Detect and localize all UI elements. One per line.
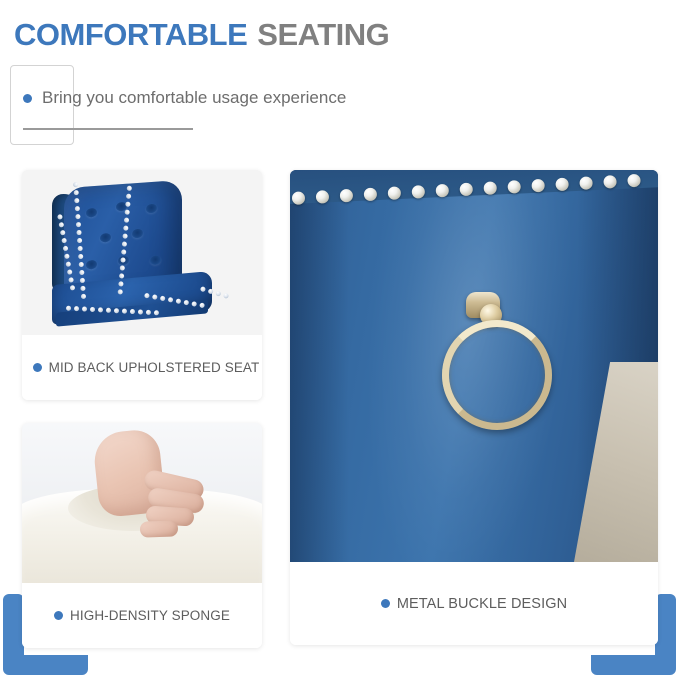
nailhead-stud [74, 190, 79, 195]
card-caption-text: MID BACK UPHOLSTERED SEAT [49, 360, 260, 375]
velvet-illustration [290, 170, 658, 562]
nailhead-stud [144, 293, 150, 299]
card-caption: MID BACK UPHOLSTERED SEAT [22, 335, 262, 400]
nailhead-stud [627, 174, 641, 188]
chair-tuft [150, 255, 161, 265]
nailhead-stud [80, 286, 85, 291]
nailhead-stud [435, 184, 449, 198]
nailhead-stud [125, 202, 130, 207]
chair-tuft [146, 204, 157, 214]
nailhead-stud [364, 188, 378, 202]
feature-card-high-density-sponge: HIGH-DENSITY SPONGE [22, 423, 262, 648]
card-caption-text: METAL BUCKLE DESIGN [397, 596, 567, 612]
nailhead-stud [70, 285, 76, 291]
chair-tuft [132, 229, 143, 239]
nailhead-stud [176, 298, 182, 304]
nailhead-stud [75, 214, 80, 219]
nailhead-stud [123, 225, 128, 230]
nailhead-stud [98, 307, 103, 312]
chair-tuft [86, 260, 97, 270]
subtitle-text: Bring you comfortable usage experience [42, 88, 346, 108]
nailhead-stud [60, 230, 66, 236]
chair-photo [22, 170, 262, 335]
nailhead-stud [121, 249, 126, 254]
nailhead-stud [106, 308, 111, 313]
subtitle-divider [23, 128, 193, 130]
nailhead-stud [81, 294, 86, 299]
nailhead-stud [79, 270, 84, 275]
nailhead-stud [160, 296, 166, 302]
nailhead-stud [67, 269, 73, 275]
nailhead-stud [388, 186, 402, 200]
nailhead-stud [80, 278, 85, 283]
nailhead-stud [78, 254, 83, 259]
feature-card-mid-back-seat: MID BACK UPHOLSTERED SEAT [22, 170, 262, 400]
chair-illustration [22, 170, 262, 335]
nailhead-stud [57, 214, 63, 220]
chair-tuft [100, 233, 111, 243]
nailhead-stud [76, 230, 81, 235]
feature-card-metal-buckle: METAL BUCKLE DESIGN [290, 170, 658, 645]
nailhead-stud [507, 180, 521, 194]
bullet-dot-icon [381, 599, 390, 608]
page-title-secondary: Seating [257, 6, 389, 55]
bullet-dot-icon [33, 363, 42, 372]
nailhead-stud [63, 246, 69, 252]
nailhead-stud [64, 253, 70, 259]
card-caption: HIGH-DENSITY SPONGE [22, 583, 262, 648]
nailhead-stud [127, 186, 132, 191]
nailhead-stud [79, 262, 84, 267]
bullet-dot-icon [23, 94, 32, 103]
sponge-photo [22, 423, 262, 583]
subtitle: Bring you comfortable usage experience [23, 88, 346, 108]
nailhead-stud [118, 289, 123, 294]
nailhead-stud [183, 300, 189, 306]
nailhead-stud [118, 281, 123, 286]
nailhead-stud [126, 194, 131, 199]
corner-bracket-bottom-right [591, 655, 676, 675]
nailhead-stud [152, 294, 158, 300]
nailhead-stud [74, 198, 79, 203]
nailhead-stud [154, 310, 159, 315]
velvet-shadow-left [290, 170, 349, 562]
nailhead-stud [191, 301, 197, 307]
card-caption: METAL BUCKLE DESIGN [290, 562, 658, 645]
foam-illustration [22, 423, 262, 583]
nailhead-stud [120, 265, 125, 270]
nailhead-stud [122, 241, 127, 246]
nailhead-stud [483, 181, 497, 195]
nailhead-stud [316, 190, 330, 204]
nailhead-stud [82, 306, 87, 311]
corner-bracket-bottom-left [3, 655, 88, 675]
nailhead-stud [65, 261, 71, 267]
page-title: ComfortableSeating [14, 2, 674, 60]
nailhead-stud [208, 288, 214, 294]
nailhead-stud [215, 291, 221, 297]
nailhead-stud [76, 222, 81, 227]
metal-ring-icon [442, 320, 552, 430]
page-title-primary: Comfortable [14, 6, 247, 55]
nailhead-stud [200, 286, 206, 292]
nailhead-stud [459, 183, 473, 197]
nailhead-stud [168, 297, 174, 303]
nailhead-stud [90, 307, 95, 312]
card-caption-text: HIGH-DENSITY SPONGE [70, 608, 230, 623]
nailhead-stud [531, 179, 545, 193]
nailhead-stud [146, 310, 151, 315]
nailhead-stud [292, 191, 306, 205]
nailhead-stud [58, 222, 64, 228]
nailhead-stud [119, 273, 124, 278]
nailhead-stud [579, 176, 593, 190]
nailhead-stud [61, 238, 67, 244]
nailhead-stud [603, 175, 617, 189]
nailhead-stud [199, 302, 205, 308]
nailhead-stud [124, 217, 129, 222]
nailhead-stud [122, 233, 127, 238]
buckle-photo [290, 170, 658, 562]
nailhead-stud [77, 246, 82, 251]
nailhead-stud [77, 238, 82, 243]
nailhead-stud [124, 209, 129, 214]
nailhead-stud [74, 306, 79, 311]
nailhead-stud [340, 189, 354, 203]
nailhead-stud [73, 182, 78, 187]
nailhead-stud [122, 309, 127, 314]
hand-finger-shape [140, 520, 179, 537]
nailhead-stud [75, 206, 80, 211]
nailhead-stud [114, 308, 119, 313]
nailhead-stud [120, 257, 125, 262]
nailhead-stud [555, 178, 569, 192]
bullet-dot-icon [54, 611, 63, 620]
nailhead-stud [411, 185, 425, 199]
nailhead-stud [138, 309, 143, 314]
nailhead-stud [66, 306, 71, 311]
nailhead-stud [68, 277, 74, 283]
nailhead-stud [223, 293, 229, 299]
nailhead-stud [130, 309, 135, 314]
chair-tuft [86, 208, 97, 218]
